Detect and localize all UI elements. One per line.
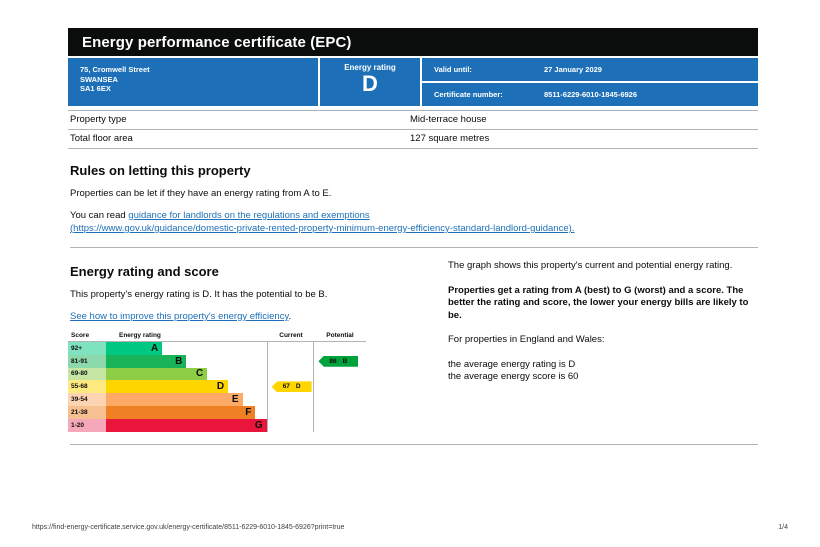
band-bar: D <box>106 380 228 393</box>
table-row: Total floor area 127 square metres <box>68 130 758 149</box>
certificate-number-value: 8511-6229-6010-1845-6926 <box>544 90 637 99</box>
property-address: 75, Cromwell Street SWANSEA SA1 6EX <box>68 58 318 106</box>
document-title-bar: Energy performance certificate (EPC) <box>68 28 758 56</box>
graph-header-rating: Energy rating <box>109 332 268 339</box>
rules-guidance-paragraph: You can read guidance for landlords on t… <box>70 209 758 235</box>
rating-and-score-section: Energy rating and score This property's … <box>68 260 758 432</box>
epc-rating-graph: Score Energy rating Current Potential 92… <box>68 332 366 432</box>
certificate-number-row: Certificate number: 8511-6229-6010-1845-… <box>422 83 758 106</box>
bottom-divider <box>70 444 758 445</box>
band-score-range: 39-54 <box>68 393 106 406</box>
rating-bands: 92+A81-91B69-80C55-68D39-54E21-38F1-20G <box>68 342 267 432</box>
table-row: Property type Mid-terrace house <box>68 110 758 130</box>
energy-rating-badge: Energy rating D <box>320 58 420 106</box>
current-rating-arrow-score: 67 <box>283 383 290 390</box>
current-rating-column: 67D <box>267 342 314 432</box>
band-bar: B <box>106 355 186 368</box>
band-score-range: 81-91 <box>68 355 106 368</box>
page-title: Energy performance certificate (EPC) <box>82 34 352 51</box>
valid-until-value: 27 January 2029 <box>544 65 602 74</box>
property-type-value: Mid-terrace house <box>410 114 487 125</box>
band-bar: F <box>106 406 255 419</box>
potential-rating-column: 86B <box>313 342 366 432</box>
graph-body: 92+A81-91B69-80C55-68D39-54E21-38F1-20G … <box>68 342 366 432</box>
rating-right-column: The graph shows this property's current … <box>440 260 758 432</box>
valid-until-row: Valid until: 27 January 2029 <box>422 58 758 81</box>
band-bar: E <box>106 393 243 406</box>
total-floor-area-label: Total floor area <box>70 133 410 144</box>
average-energy-score-text: the average energy score is 60 <box>448 371 758 384</box>
certificate-meta: Valid until: 27 January 2029 Certificate… <box>422 58 758 106</box>
rating-band-row: 1-20G <box>68 419 267 432</box>
improve-efficiency-link[interactable]: See how to improve this property's energ… <box>70 311 289 322</box>
rating-band-row: 92+A <box>68 342 267 355</box>
page-footer: https://find-energy-certificate.service.… <box>32 524 788 531</box>
total-floor-area-value: 127 square metres <box>410 133 489 144</box>
potential-rating-arrow: 86B <box>318 356 358 367</box>
rules-paragraph: Properties can be let if they have an en… <box>70 187 758 200</box>
energy-rating-letter: D <box>320 72 420 96</box>
address-line-2: SWANSEA <box>80 75 318 85</box>
landlord-guidance-link[interactable]: guidance for landlords on the regulation… <box>128 210 369 221</box>
band-score-range: 21-38 <box>68 406 106 419</box>
footer-page-number: 1/4 <box>778 524 788 531</box>
potential-rating-arrow-score: 86 <box>329 358 336 365</box>
region-intro-text: For properties in England and Wales: <box>448 334 758 347</box>
improve-link-suffix: . <box>289 311 292 322</box>
graph-header-potential: Potential <box>314 332 366 339</box>
rating-heading: Energy rating and score <box>70 264 440 279</box>
current-rating-arrow-letter: D <box>296 383 301 390</box>
ratings-explainer-text: Properties get a rating from A (best) to… <box>448 285 758 323</box>
certificate-number-label: Certificate number: <box>434 90 544 99</box>
rating-band-row: 39-54E <box>68 393 267 406</box>
rating-band-row: 81-91B <box>68 355 267 368</box>
rating-band-row: 69-80C <box>68 368 267 381</box>
band-score-range: 1-20 <box>68 419 106 432</box>
rating-band-row: 21-38F <box>68 406 267 419</box>
valid-until-label: Valid until: <box>434 65 544 74</box>
footer-url: https://find-energy-certificate.service.… <box>32 524 344 531</box>
section-divider <box>70 247 758 248</box>
current-rating-arrow: 67D <box>272 381 312 392</box>
average-energy-rating-text: the average energy rating is D <box>448 359 758 372</box>
band-score-range: 69-80 <box>68 368 106 381</box>
band-bar: G <box>106 419 267 432</box>
band-bar: A <box>106 342 162 355</box>
landlord-guidance-url[interactable]: (https://www.gov.uk/guidance/domestic-pr… <box>70 223 574 234</box>
rules-read-prefix: You can read <box>70 210 126 221</box>
property-type-label: Property type <box>70 114 410 125</box>
band-score-range: 92+ <box>68 342 106 355</box>
rules-heading: Rules on letting this property <box>70 163 758 178</box>
band-bar: C <box>106 368 207 381</box>
rating-band-row: 55-68D <box>68 380 267 393</box>
graph-header-score: Score <box>68 332 109 339</box>
rating-left-column: Energy rating and score This property's … <box>68 260 440 432</box>
graph-intro-text: The graph shows this property's current … <box>448 260 758 273</box>
address-line-1: 75, Cromwell Street <box>80 65 318 75</box>
rating-paragraph: This property's energy rating is D. It h… <box>70 288 440 301</box>
band-score-range: 55-68 <box>68 380 106 393</box>
address-line-3: SA1 6EX <box>80 84 318 94</box>
graph-header-current: Current <box>268 332 314 339</box>
improve-efficiency-paragraph: See how to improve this property's energ… <box>70 310 440 323</box>
property-details-table: Property type Mid-terrace house Total fl… <box>68 110 758 149</box>
certificate-summary-band: 75, Cromwell Street SWANSEA SA1 6EX Ener… <box>68 58 758 106</box>
graph-header-row: Score Energy rating Current Potential <box>68 332 366 342</box>
epc-page: Energy performance certificate (EPC) 75,… <box>0 0 820 547</box>
certificate-sheet: Energy performance certificate (EPC) 75,… <box>68 28 758 445</box>
potential-rating-arrow-letter: B <box>343 358 348 365</box>
